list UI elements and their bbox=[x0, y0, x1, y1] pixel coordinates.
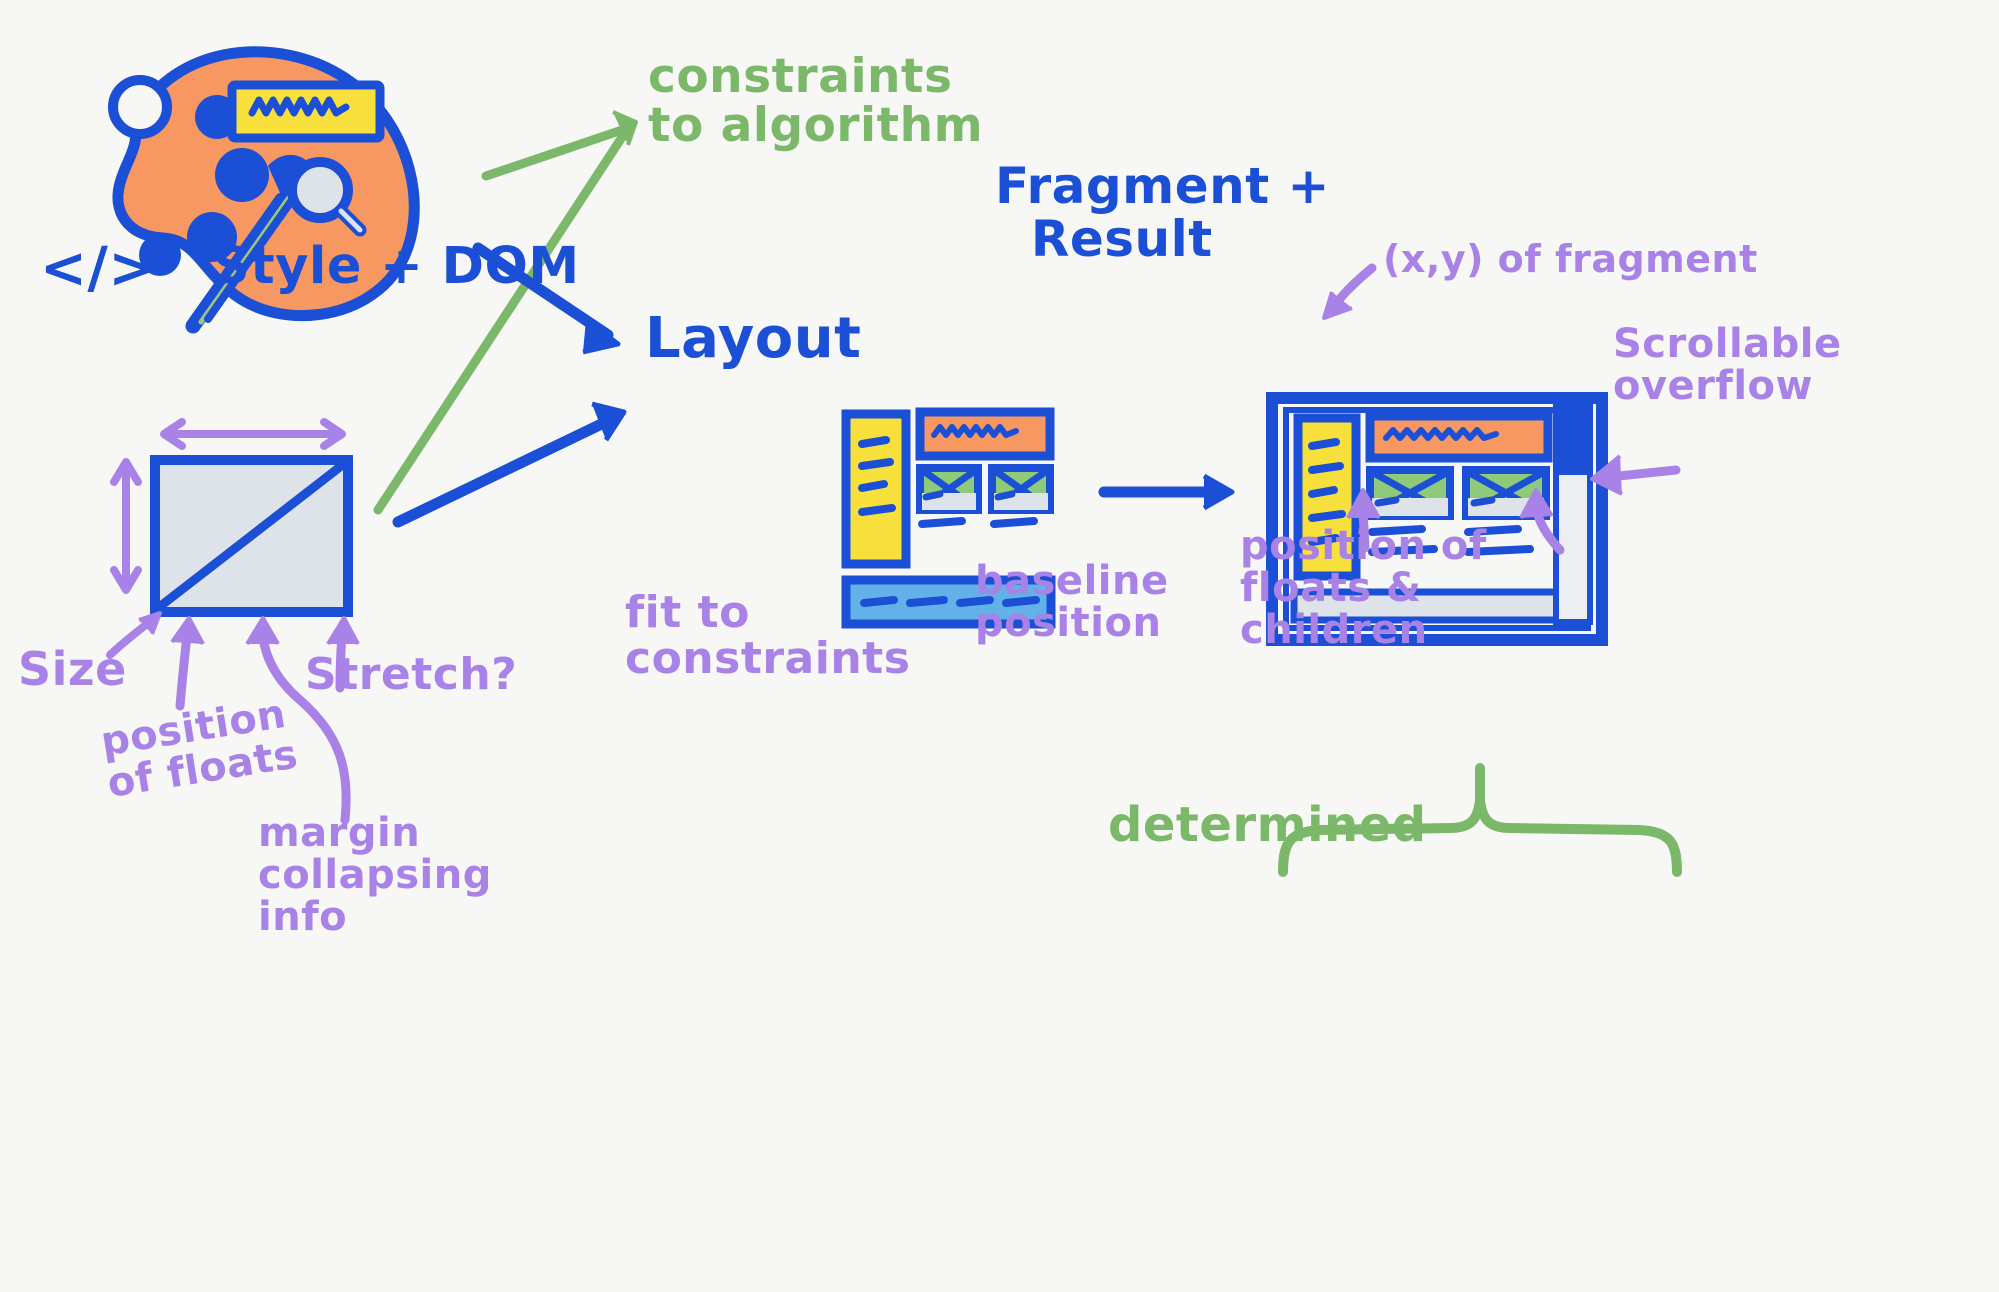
constraints-to-algorithm-label: constraints to algorithm bbox=[648, 52, 983, 151]
box-diagonal-icon bbox=[155, 460, 348, 612]
width-measure-arrow bbox=[164, 422, 342, 446]
code-tag-icon: </> bbox=[40, 240, 156, 299]
constraints-to-algorithm-arrow bbox=[378, 112, 636, 510]
determined-label: determined bbox=[1108, 800, 1427, 850]
baseline-position-label: baseline position bbox=[975, 560, 1169, 644]
layout-label: Layout bbox=[645, 310, 861, 369]
xy-of-fragment-label: (x,y) of fragment bbox=[1383, 240, 1758, 280]
margin-collapsing-info-label: margin collapsing info bbox=[258, 812, 492, 938]
style-dom-label: Style + DOM bbox=[213, 240, 580, 294]
whiteboard-canvas: .bstroke{stroke:#1a4fd6;fill:none;stroke… bbox=[0, 0, 1999, 1292]
yellow-text-box-icon bbox=[232, 85, 380, 138]
fragment-result-label: Fragment + Result bbox=[995, 160, 1330, 265]
position-of-floats-children-label: position of floats & children bbox=[1240, 525, 1487, 651]
stretch-label: Stretch? bbox=[305, 652, 517, 698]
layout-to-fragment-arrow bbox=[1104, 476, 1232, 508]
height-measure-arrow bbox=[114, 462, 138, 590]
position-of-floats-arrow bbox=[172, 618, 203, 706]
size-label: Size bbox=[18, 645, 127, 693]
xy-fragment-arrow bbox=[1324, 268, 1372, 318]
fit-to-constraints-label: fit to constraints bbox=[625, 590, 910, 682]
scrollable-overflow-label: Scrollable overflow bbox=[1613, 323, 1842, 407]
